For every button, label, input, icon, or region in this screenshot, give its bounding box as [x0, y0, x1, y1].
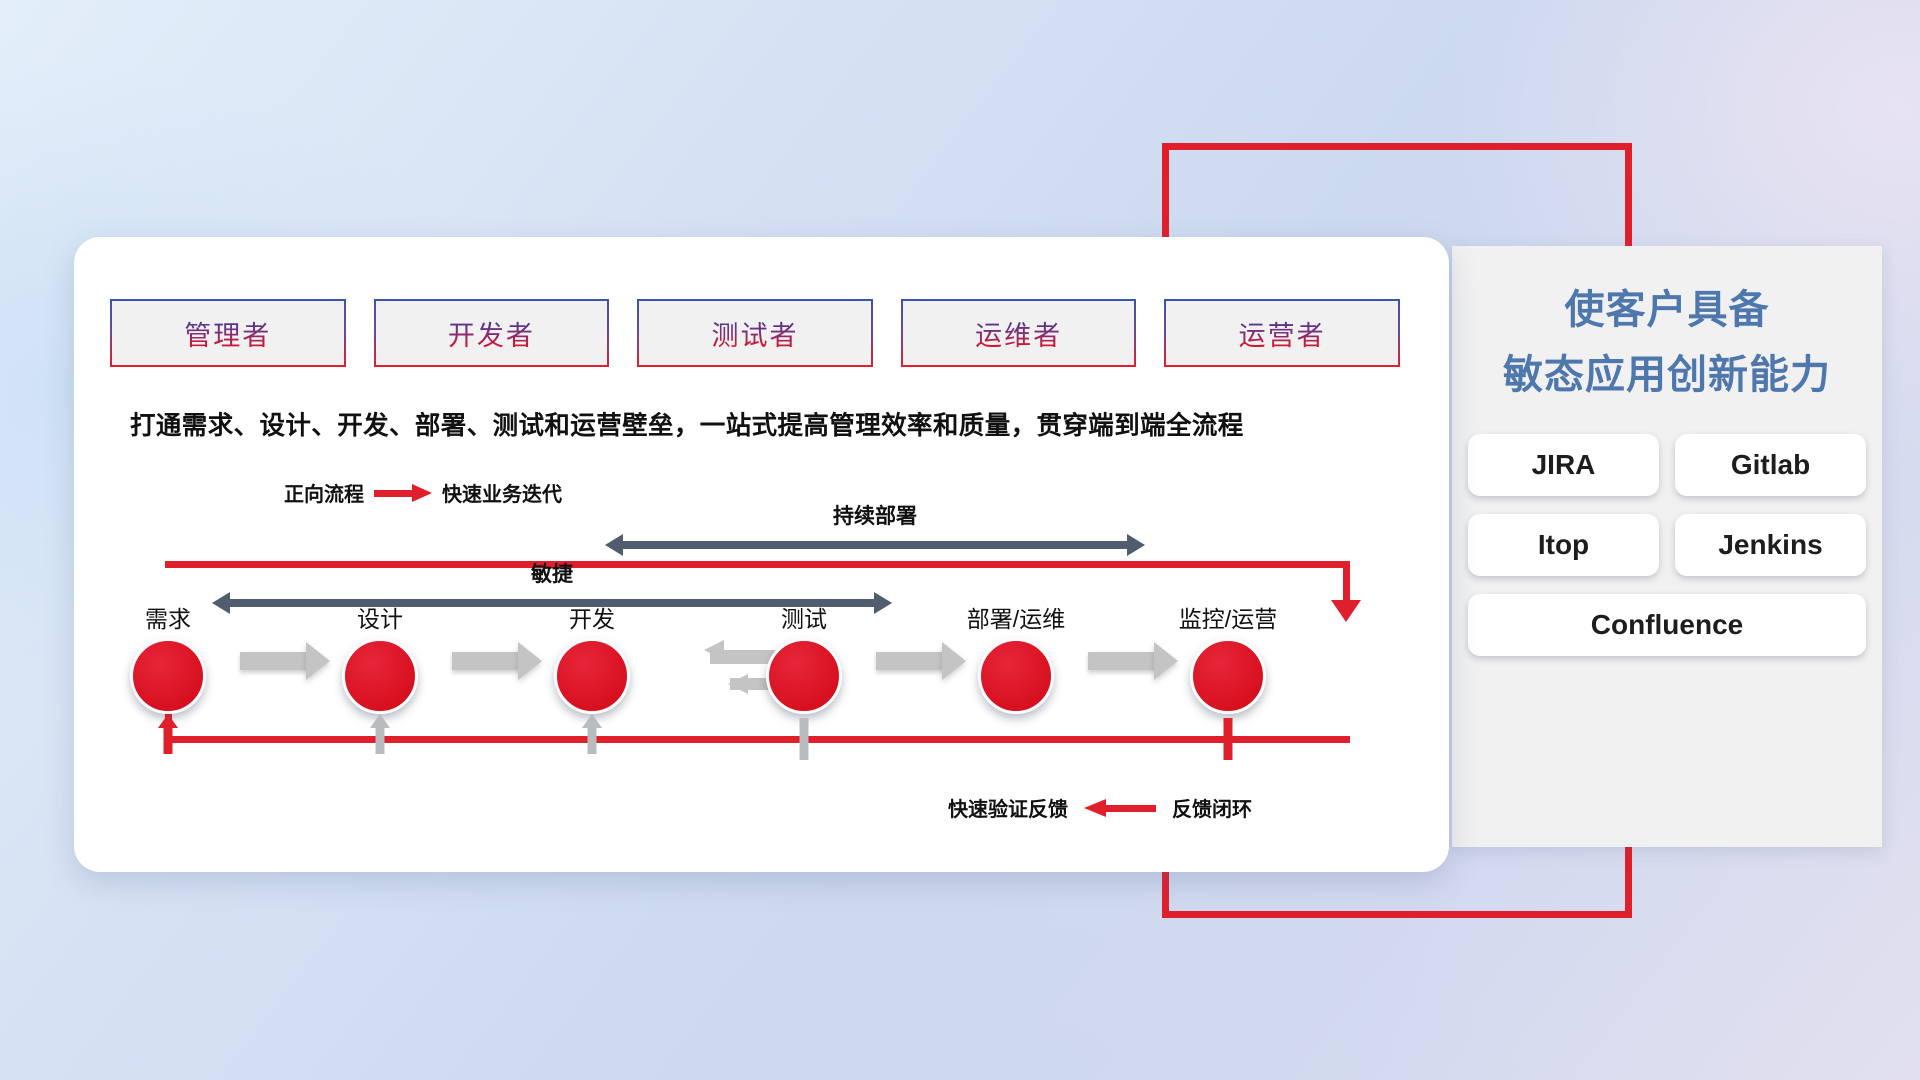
- role-label: 测试者: [711, 314, 798, 353]
- node-stem: [1224, 718, 1233, 760]
- span-continuous-deployment: 持续部署: [605, 500, 1145, 556]
- pipeline-node-requirement[interactable]: 需求: [130, 638, 206, 714]
- node-dot-icon: [766, 638, 842, 714]
- node-label: 需求: [145, 600, 191, 634]
- node-label: 设计: [357, 600, 403, 634]
- tool-jenkins[interactable]: Jenkins: [1675, 514, 1866, 576]
- role-label: 运营者: [1239, 314, 1326, 353]
- node-dot-icon: [554, 638, 630, 714]
- role-box-developer[interactable]: 开发者: [374, 299, 610, 367]
- tool-gitlab[interactable]: Gitlab: [1675, 434, 1866, 496]
- node-dot-icon: [342, 638, 418, 714]
- node-label: 测试: [781, 600, 827, 634]
- node-label: 监控/运营: [1179, 600, 1277, 634]
- tool-jira[interactable]: JIRA: [1468, 434, 1659, 496]
- right-panel-title-line2: 敏态应用创新能力: [1452, 343, 1882, 408]
- flow-arrow-4-icon: [1088, 642, 1180, 680]
- tool-list: JIRA Gitlab Itop Jenkins Confluence: [1452, 434, 1882, 656]
- right-panel: 使客户具备 敏态应用创新能力 JIRA Gitlab Itop Jenkins …: [1452, 246, 1882, 847]
- description-text: 打通需求、设计、开发、部署、测试和运营壁垒，一站式提高管理效率和质量，贯穿端到端…: [130, 405, 1390, 442]
- forward-flow-label-left: 正向流程: [284, 478, 364, 507]
- flow-arrow-3-icon: [876, 642, 968, 680]
- node-stem: [376, 728, 385, 754]
- red-bracket-bottom: [1162, 911, 1632, 918]
- pipeline-node-develop[interactable]: 开发: [554, 638, 630, 714]
- node-stem: [800, 718, 809, 760]
- node-label: 部署/运维: [967, 600, 1065, 634]
- node-dot-icon: [978, 638, 1054, 714]
- feedback-label-left: 快速验证反馈: [948, 793, 1068, 822]
- node-stem-tip-icon: [158, 714, 178, 728]
- node-dot-icon: [1190, 638, 1266, 714]
- node-label: 开发: [569, 600, 615, 634]
- forward-flow-label-right: 快速业务迭代: [442, 478, 562, 507]
- tool-itop[interactable]: Itop: [1468, 514, 1659, 576]
- span-label: 持续部署: [605, 500, 1145, 530]
- span-label: 敏捷: [212, 558, 892, 588]
- pipeline-row: 需求 设计 开发 测试 部署/运维: [110, 612, 1400, 752]
- node-stem: [588, 728, 597, 754]
- role-label: 开发者: [448, 314, 535, 353]
- red-arrow-right-icon: [374, 484, 432, 502]
- feedback-loop-legend: 快速验证反馈 反馈闭环: [948, 793, 1252, 822]
- role-label: 管理者: [184, 314, 271, 353]
- feedback-label-right: 反馈闭环: [1172, 793, 1252, 822]
- role-box-operator[interactable]: 运营者: [1164, 299, 1400, 367]
- right-panel-title: 使客户具备 敏态应用创新能力: [1452, 278, 1882, 408]
- pipeline-node-monitor-operate[interactable]: 监控/运营: [1190, 638, 1266, 714]
- role-label: 运维者: [975, 314, 1062, 353]
- forward-flow-legend: 正向流程 快速业务迭代: [284, 478, 562, 507]
- double-arrow-icon: [605, 534, 1145, 556]
- red-bracket-top: [1162, 143, 1632, 150]
- role-box-manager[interactable]: 管理者: [110, 299, 346, 367]
- tool-confluence[interactable]: Confluence: [1468, 594, 1866, 656]
- node-stem-tip-icon: [370, 714, 390, 728]
- role-box-ops[interactable]: 运维者: [901, 299, 1137, 367]
- role-box-row: 管理者 开发者 测试者 运维者 运营者: [110, 299, 1400, 367]
- red-arrow-left-icon: [1084, 799, 1156, 817]
- pipeline-node-deploy-ops[interactable]: 部署/运维: [978, 638, 1054, 714]
- right-panel-title-line1: 使客户具备: [1452, 278, 1882, 343]
- node-dot-icon: [130, 638, 206, 714]
- node-stem: [164, 728, 173, 754]
- flow-arrow-1-icon: [240, 642, 332, 680]
- node-stem-tip-icon: [582, 714, 602, 728]
- flow-arrow-2-icon: [452, 642, 544, 680]
- pipeline-node-design[interactable]: 设计: [342, 638, 418, 714]
- role-box-tester[interactable]: 测试者: [637, 299, 873, 367]
- pipeline-node-test[interactable]: 测试: [766, 638, 842, 714]
